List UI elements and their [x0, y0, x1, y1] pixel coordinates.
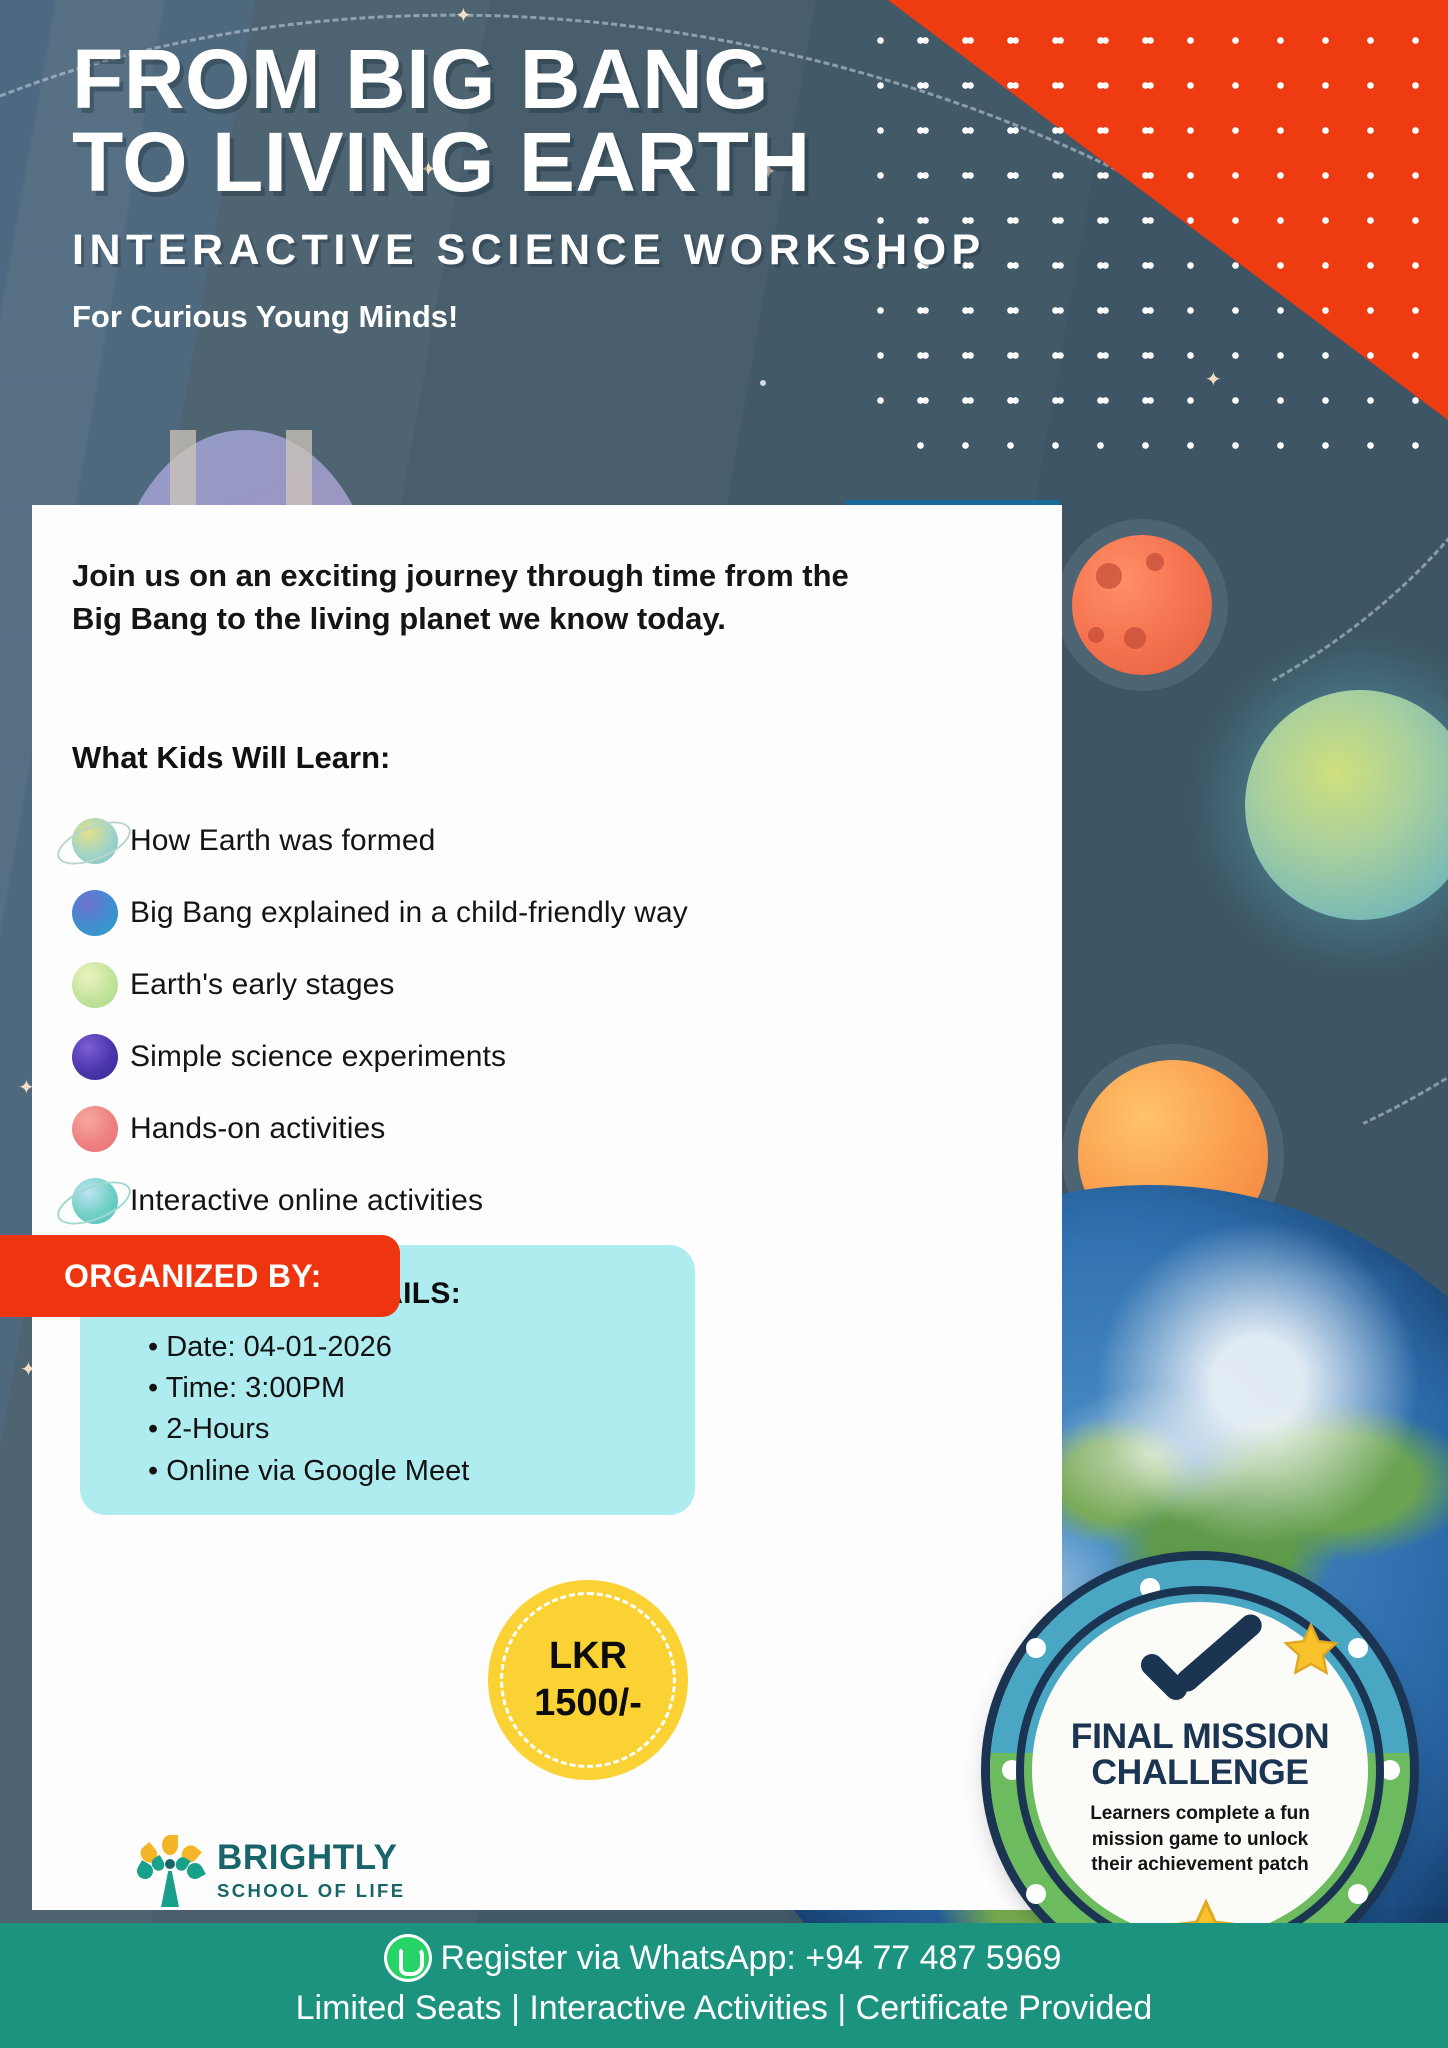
badge-nub: [1348, 1884, 1368, 1904]
learning-points-list: How Earth was formed Big Bang explained …: [60, 805, 1020, 1237]
footer-bar: Register via WhatsApp: +94 77 487 5969 L…: [0, 1923, 1448, 2048]
mission-title-line-2: CHALLENGE: [1071, 1754, 1329, 1790]
mission-badge-description: Learners complete a fun mission game to …: [1075, 1801, 1325, 1877]
title-line-1: FROM BIG BANG: [72, 38, 1182, 121]
list-item-label: Earth's early stages: [130, 968, 395, 1002]
pink-planet-icon: [60, 1100, 130, 1158]
list-item: Interactive online activities: [60, 1165, 1020, 1237]
final-mission-challenge-badge: FINAL MISSION CHALLENGE Learners complet…: [990, 1560, 1410, 1980]
list-item-label: Simple science experiments: [130, 1040, 506, 1074]
price-amount: 1500/-: [534, 1680, 642, 1728]
checkmark-icon: [1130, 1636, 1270, 1712]
sparkle-icon: ✦: [455, 6, 472, 26]
teal-ringed-planet-icon: [60, 1172, 130, 1230]
star-dot: [760, 380, 766, 386]
badge-nub: [1348, 1638, 1368, 1658]
list-item: Hands-on activities: [60, 1093, 1020, 1165]
subtitle: INTERACTIVE SCIENCE WORKSHOP: [72, 226, 1182, 275]
title-line-2: TO LIVING EARTH: [72, 121, 1182, 204]
list-item-label: Hands-on activities: [130, 1112, 385, 1146]
list-item-label: Interactive online activities: [130, 1184, 483, 1218]
list-item: How Earth was formed: [60, 805, 1020, 877]
list-item: Simple science experiments: [60, 1021, 1020, 1093]
intro-paragraph: Join us on an exciting journey through t…: [72, 555, 872, 641]
learn-heading: What Kids Will Learn:: [72, 740, 390, 776]
blue-cratered-planet-icon: [60, 884, 130, 942]
list-item: Big Bang explained in a child-friendly w…: [60, 877, 1020, 949]
list-item-label: Big Bang explained in a child-friendly w…: [130, 896, 688, 930]
price-currency: LKR: [549, 1633, 627, 1681]
list-item-label: How Earth was formed: [130, 824, 435, 858]
tree-person-logo-icon: [137, 1835, 203, 1907]
green-striped-planet-icon: [60, 956, 130, 1014]
badge-nub: [1026, 1884, 1046, 1904]
page-title: FROM BIG BANG TO LIVING EARTH: [72, 38, 1182, 204]
poster-header: FROM BIG BANG TO LIVING EARTH INTERACTIV…: [72, 38, 1182, 335]
list-item: Earth's early stages: [60, 949, 1020, 1021]
saturn-planet-icon: [60, 812, 130, 870]
mission-title-line-1: FINAL MISSION: [1071, 1718, 1329, 1754]
purple-planet-icon: [60, 1028, 130, 1086]
mission-badge-title: FINAL MISSION CHALLENGE: [1071, 1718, 1329, 1790]
detail-date: Date: 04-01-2026: [148, 1327, 469, 1368]
brightly-logo: BRIGHTLY SCHOOL OF LIFE: [137, 1835, 405, 1907]
whatsapp-icon: [387, 1937, 429, 1979]
detail-time: Time: 3:00PM: [148, 1368, 469, 1409]
organized-by-label: ORGANIZED BY:: [64, 1258, 322, 1295]
detail-platform: Online via Google Meet: [148, 1451, 469, 1492]
tagline: For Curious Young Minds!: [72, 299, 1182, 335]
badge-nub: [1026, 1638, 1046, 1658]
logo-name: BRIGHTLY: [217, 1840, 405, 1875]
mars-planet-decor: [1072, 535, 1212, 675]
sparkle-icon: ✦: [1205, 370, 1222, 390]
register-text: Register via WhatsApp: +94 77 487 5969: [441, 1939, 1062, 1978]
workshop-details-list: Date: 04-01-2026 Time: 3:00PM 2-Hours On…: [148, 1327, 469, 1492]
star-icon: [1280, 1620, 1342, 1680]
organized-by-tag: ORGANIZED BY:: [0, 1235, 400, 1317]
detail-duration: 2-Hours: [148, 1409, 469, 1450]
brightly-logo-text: BRIGHTLY SCHOOL OF LIFE: [217, 1840, 405, 1902]
price-badge: LKR 1500/-: [488, 1580, 688, 1780]
poster-root: ✦ ✦ ✦ ✦ ✦ ✦ FROM BIG BANG TO LIVING EART…: [0, 0, 1448, 2048]
register-row[interactable]: Register via WhatsApp: +94 77 487 5969: [0, 1937, 1448, 1979]
footer-features: Limited Seats | Interactive Activities |…: [0, 1989, 1448, 2028]
logo-tagline: SCHOOL OF LIFE: [217, 1880, 405, 1902]
